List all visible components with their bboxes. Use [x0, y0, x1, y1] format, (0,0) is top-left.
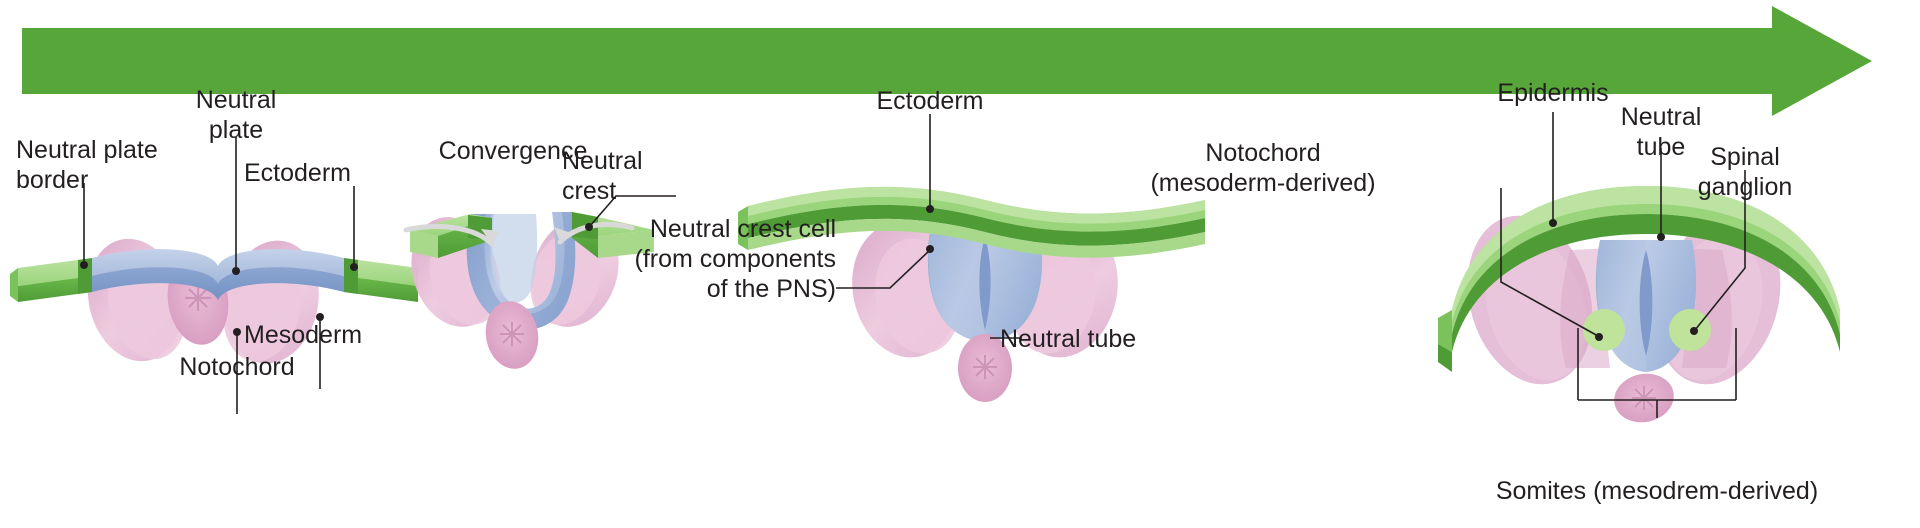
diagram-canvas: Neutral plate border Neutral plate Ectod…: [0, 0, 1920, 528]
panel-2-leader-dots: [585, 223, 593, 231]
label-neutral-plate: Neutral plate: [146, 85, 326, 145]
label-notochord-p4: Notochord (mesoderm-derived): [1113, 138, 1413, 198]
label-mesoderm: Mesoderm: [244, 320, 444, 350]
label-somites: Somites (mesodrem-derived): [1427, 476, 1887, 506]
label-notochord-p1: Notochord: [137, 352, 337, 382]
neural-plate-border-right: [344, 258, 358, 294]
notochord-shape: [1610, 368, 1679, 427]
label-ectoderm-p3: Ectoderm: [840, 86, 1020, 116]
label-spinal-ganglion: Spinal ganglion: [1675, 142, 1815, 202]
label-neutral-crest-cell: Neutral crest cell (from components of t…: [616, 214, 836, 304]
label-neutral-tube-p3: Neutral tube: [1000, 324, 1220, 354]
label-neutral-crest: Neutral crest: [562, 146, 702, 206]
